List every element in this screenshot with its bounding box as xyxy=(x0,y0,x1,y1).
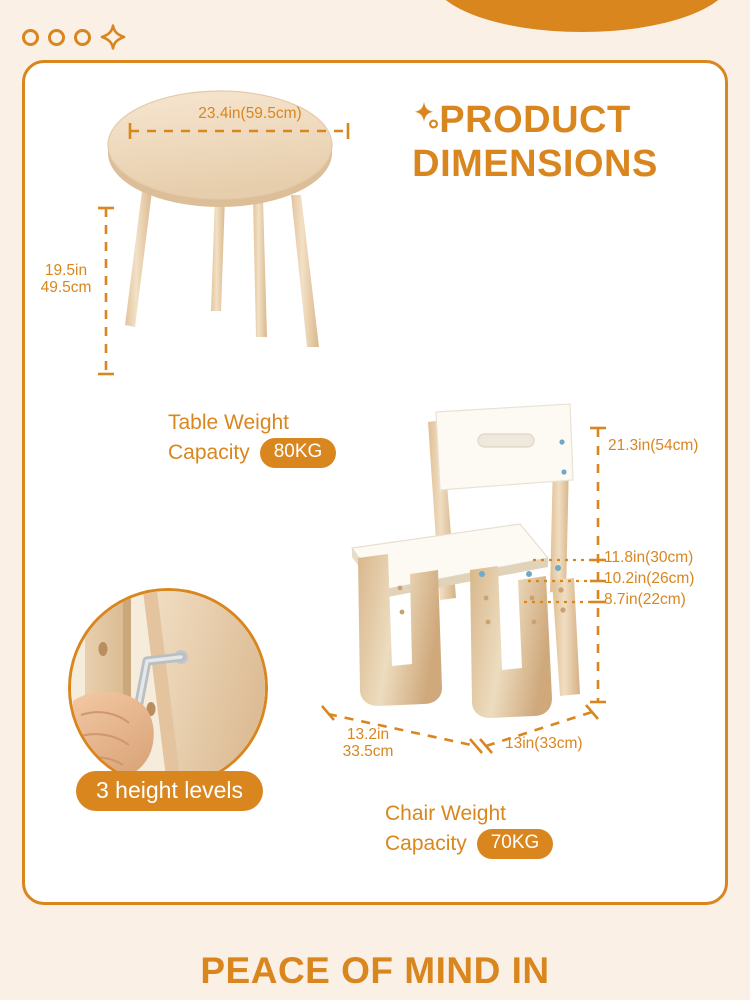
table-capacity-title-line-1: Table Weight xyxy=(168,408,336,438)
table-capacity-block: Table Weight Capacity 80KG xyxy=(168,408,336,468)
chair-capacity-block: Chair Weight Capacity 70KG xyxy=(385,799,553,859)
table-capacity-badge: 80KG xyxy=(260,438,337,468)
table-illustration xyxy=(95,75,385,395)
table-width-label: 23.4in(59.5cm) xyxy=(160,105,340,122)
chair-illustration xyxy=(330,398,620,738)
chair-seat-height-label-2: 10.2in(26cm) xyxy=(604,570,694,587)
chair-capacity-badge: 70KG xyxy=(477,829,554,859)
four-point-star-icon xyxy=(100,24,126,50)
height-levels-badge: 3 height levels xyxy=(76,771,263,811)
chair-seat-height-label-1: 11.8in(30cm) xyxy=(604,549,693,566)
chair-capacity-title-line-2: Capacity xyxy=(385,829,467,859)
table-height-cm: 49.5cm xyxy=(41,279,92,296)
orange-arc-decoration xyxy=(432,0,732,32)
chair-capacity-title-line-1: Chair Weight xyxy=(385,799,553,829)
chair-seat-height-label-3: 8.7in(22cm) xyxy=(604,591,686,608)
table-height-inches: 19.5in xyxy=(45,262,87,279)
infographic-page: PRODUCT DIMENSIONS xyxy=(0,0,750,1000)
table-height-label: 19.5in 49.5cm xyxy=(30,262,102,297)
height-adjust-photo xyxy=(68,588,268,788)
circle-decoration-3 xyxy=(74,29,91,46)
chair-back-height-label: 21.3in(54cm) xyxy=(608,437,698,454)
chair-depth-inches: 13.2in xyxy=(347,726,389,743)
chair-depth-label: 13.2in 33.5cm xyxy=(318,726,418,761)
decoration-row xyxy=(22,24,126,50)
circle-decoration-1 xyxy=(22,29,39,46)
table-capacity-title-line-2: Capacity xyxy=(168,438,250,468)
page-title: PRODUCT DIMENSIONS xyxy=(385,98,685,187)
circle-decoration-2 xyxy=(48,29,65,46)
chair-width-label: 13in(33cm) xyxy=(505,735,583,752)
page-title-line-2: DIMENSIONS xyxy=(385,142,685,186)
footer-headline: PEACE OF MIND IN xyxy=(0,950,750,992)
chair-depth-cm: 33.5cm xyxy=(343,743,394,760)
sparkle-icon xyxy=(411,100,451,132)
